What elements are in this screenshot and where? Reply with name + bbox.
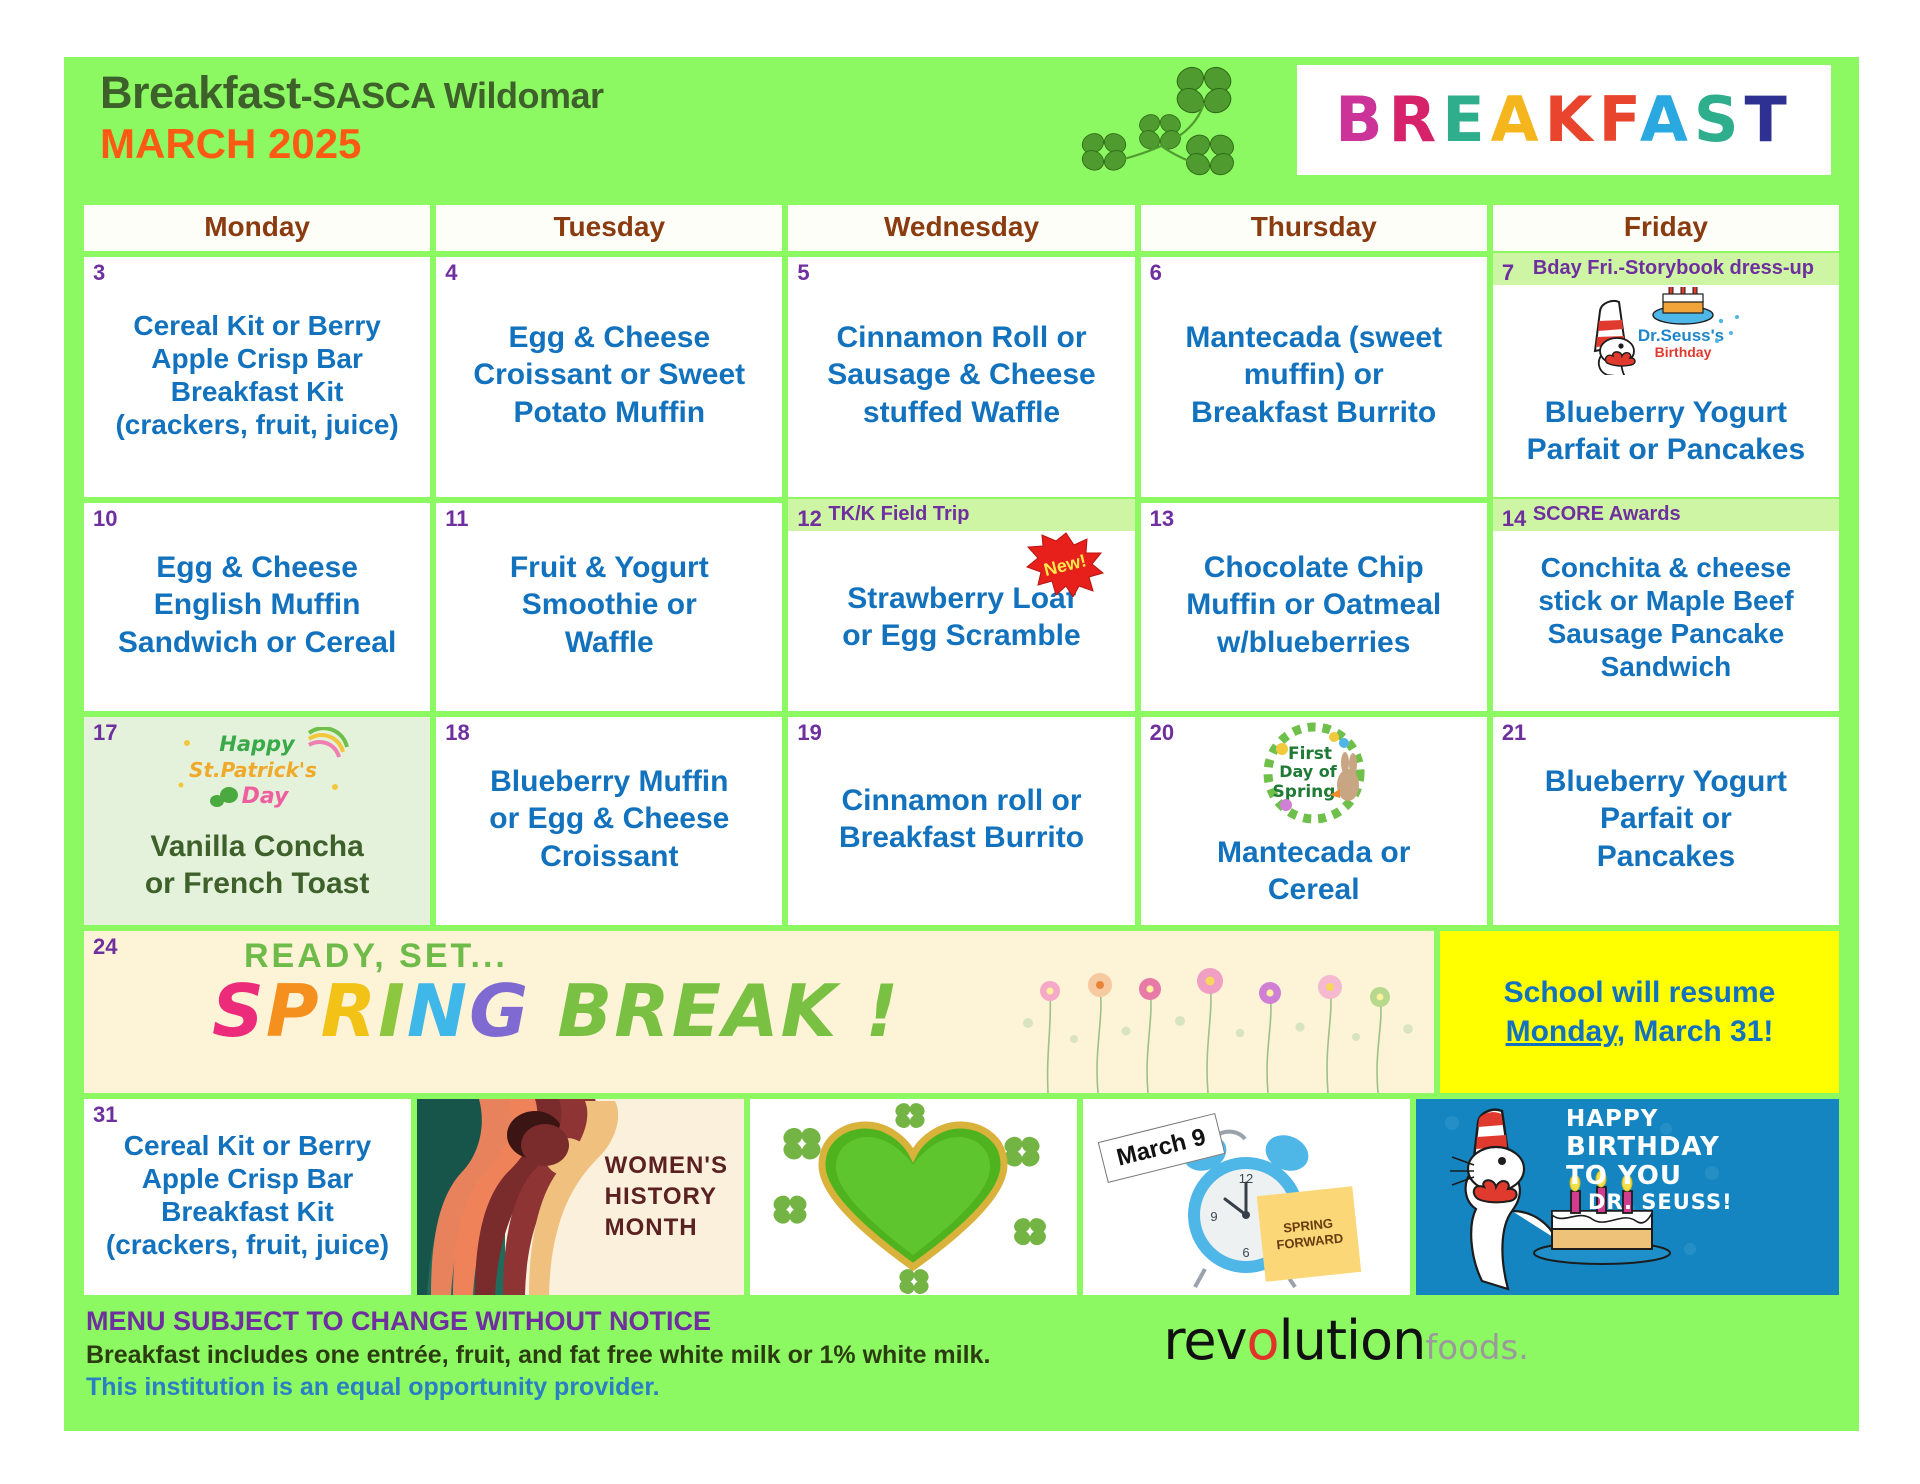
- day-number-13: 13: [1150, 506, 1174, 532]
- resume-line-2: Monday, March 31!: [1506, 1012, 1774, 1051]
- menu-items-5: Cinnamon Roll orSausage & Cheesestuffed …: [794, 261, 1128, 489]
- first-day-of-spring-icon: First Day of Spring: [1248, 719, 1380, 831]
- menu-line: (crackers, fruit, juice): [115, 408, 398, 441]
- menu-items-31: Cereal Kit or BerryApple Crisp BarBreakf…: [90, 1103, 405, 1287]
- menu-line: Breakfast Burrito: [839, 819, 1084, 856]
- day-number-12: 12: [797, 506, 821, 532]
- menu-line: Chocolate Chip: [1204, 549, 1424, 586]
- logo-letter: A: [1640, 83, 1694, 156]
- menu-line: Cereal: [1268, 871, 1360, 908]
- logo-letter: T: [1745, 83, 1793, 156]
- menu-line: Sausage & Cheese: [827, 356, 1095, 393]
- calendar-day-13[interactable]: 13Chocolate ChipMuffin or Oatmealw/blueb…: [1141, 503, 1487, 711]
- spring-break-letter: P: [266, 969, 321, 1053]
- calendar-day-14[interactable]: 14SCORE AwardsConchita & cheesestick or …: [1493, 503, 1839, 711]
- weekday-header-friday: Friday: [1493, 205, 1839, 251]
- calendar-day-11[interactable]: 11Fruit & YogurtSmoothie orWaffle: [436, 503, 782, 711]
- svg-text:First: First: [1288, 744, 1332, 764]
- spring-break-letter: G: [469, 969, 530, 1053]
- breakfast-logo: BREAKFAST: [1297, 65, 1831, 175]
- svg-text:Happy: Happy: [219, 732, 296, 756]
- brand-letter: t: [1326, 1309, 1346, 1372]
- menu-line: Conchita & cheese: [1541, 551, 1792, 584]
- resume-line-1: School will resume: [1504, 973, 1776, 1012]
- spring-flowers-icon: [1008, 943, 1428, 1093]
- revolution-wordmark: revolution: [1163, 1309, 1425, 1372]
- day-number-3: 3: [93, 260, 105, 286]
- menu-line: Croissant: [540, 838, 678, 875]
- calendar-day-10[interactable]: 10Egg & CheeseEnglish MuffinSandwich or …: [84, 503, 430, 711]
- whm-line1: WOMEN'S: [605, 1150, 728, 1181]
- day-number-18: 18: [445, 720, 469, 746]
- spring-break-letter: [530, 969, 557, 1053]
- menu-line: Sandwich: [1601, 650, 1732, 683]
- calendar-day-31: 31 Cereal Kit or BerryApple Crisp BarBre…: [84, 1099, 411, 1295]
- menu-line: muffin) or: [1244, 356, 1384, 393]
- spring-break-banner: 24 READY, SET... SPRING BREAK !: [84, 931, 1434, 1093]
- weekday-header-monday: Monday: [84, 205, 430, 251]
- menu-line: Breakfast Kit: [161, 1195, 334, 1228]
- day-note-12: TK/K Field Trip: [788, 499, 1134, 531]
- menu-line: stick or Maple Beef: [1538, 584, 1793, 617]
- brand-letter: l: [1279, 1309, 1293, 1372]
- menu-line: Muffin or Oatmeal: [1186, 586, 1441, 623]
- day-note-7: Bday Fri.-Storybook dress-up: [1493, 253, 1839, 285]
- weekday-header-wednesday: Wednesday: [788, 205, 1134, 251]
- womens-history-month-image: WOMEN'S HISTORY MONTH: [417, 1099, 744, 1295]
- menu-line: Egg & Cheese: [156, 549, 358, 586]
- spring-break-letter: K: [781, 969, 839, 1053]
- menu-items-20: Mantecada orCereal: [1147, 825, 1481, 917]
- svg-text:Dr.Seuss's: Dr.Seuss's: [1638, 326, 1724, 345]
- spring-break-section: 24 READY, SET... SPRING BREAK !: [64, 931, 1859, 1295]
- page-title: Breakfast-SASCA Wildomar: [100, 67, 603, 119]
- menu-line: Cereal Kit or Berry: [124, 1129, 371, 1162]
- menu-line: Sausage Pancake: [1548, 617, 1785, 650]
- school-resume-notice: School will resume Monday, March 31!: [1440, 931, 1839, 1093]
- spring-break-letter: R: [321, 969, 378, 1053]
- logo-letter: R: [1388, 83, 1442, 156]
- spring-break-letter: R: [614, 969, 671, 1053]
- title-sub: -SASCA Wildomar: [301, 75, 604, 116]
- calendar-day-17[interactable]: 17 Happy St.Patrick's Day Vanilla Concha…: [84, 717, 430, 925]
- title-main: Breakfast: [100, 67, 301, 118]
- menu-line: Potato Muffin: [513, 394, 705, 431]
- menu-line: Mantecada (sweet: [1185, 319, 1442, 356]
- menu-line: Waffle: [565, 624, 654, 661]
- poster-footer: MENU SUBJECT TO CHANGE WITHOUT NOTICE Br…: [64, 1295, 1859, 1415]
- menu-items-6: Mantecada (sweetmuffin) orBreakfast Burr…: [1147, 261, 1481, 489]
- menu-line: Apple Crisp Bar: [142, 1162, 354, 1195]
- day-number-21: 21: [1502, 720, 1526, 746]
- last-row: 31 Cereal Kit or BerryApple Crisp BarBre…: [84, 1099, 1839, 1295]
- day-number-31: 31: [93, 1102, 117, 1128]
- brand-letter: o: [1360, 1309, 1392, 1372]
- weekday-header-tuesday: Tuesday: [436, 205, 782, 251]
- poster-header: Breakfast-SASCA Wildomar MARCH 2025: [64, 57, 1859, 205]
- spring-break-letter: N: [407, 969, 469, 1053]
- menu-line: Mantecada or: [1217, 834, 1410, 871]
- menu-items-19: Cinnamon roll orBreakfast Burrito: [794, 721, 1128, 917]
- calendar-day-12[interactable]: 12TK/K Field TripStrawberry Loafor Egg S…: [788, 503, 1134, 711]
- menu-line: (crackers, fruit, juice): [106, 1228, 389, 1261]
- spring-break-letter: !: [865, 969, 900, 1053]
- spring-break-letter: A: [723, 969, 781, 1053]
- footer-includes: Breakfast includes one entrée, fruit, an…: [86, 1339, 1839, 1372]
- spring-break-letter: E: [672, 969, 723, 1053]
- day-number-11: 11: [445, 506, 468, 532]
- menu-line: stuffed Waffle: [863, 394, 1060, 431]
- spring-break-text: SPRING BREAK !: [212, 969, 900, 1053]
- menu-items-4: Egg & CheeseCroissant or SweetPotato Muf…: [442, 261, 776, 489]
- menu-line: Cinnamon roll or: [842, 782, 1082, 819]
- menu-line: English Muffin: [154, 586, 361, 623]
- clover-heart-image: [750, 1099, 1077, 1295]
- breakfast-menu-poster: Breakfast-SASCA Wildomar MARCH 2025: [64, 57, 1859, 1431]
- spring-break-letter: B: [557, 969, 614, 1053]
- seuss-line2: BIRTHDAY: [1566, 1133, 1733, 1162]
- menu-line: Pancakes: [1597, 838, 1735, 875]
- svg-text:9: 9: [1210, 1209, 1217, 1224]
- menu-line: Apple Crisp Bar: [151, 342, 363, 375]
- menu-line: Breakfast Burrito: [1191, 394, 1436, 431]
- menu-line: Vanilla Concha: [150, 828, 363, 865]
- spring-break-letter: S: [212, 969, 266, 1053]
- day-number-24: 24: [93, 934, 117, 960]
- brand-letter: v: [1216, 1309, 1247, 1372]
- day-number-5: 5: [797, 260, 809, 286]
- breakfast-logo-text: BREAKFAST: [1335, 89, 1793, 151]
- resume-date: , March 31!: [1617, 1015, 1774, 1048]
- dr-seuss-birthday-icon: Dr.Seuss's Birthday: [1571, 287, 1761, 375]
- menu-line: Blueberry Yogurt: [1545, 394, 1787, 431]
- spring-forward-image: 123 69 March 9 SPRING FORWARD: [1083, 1099, 1410, 1295]
- menu-items-11: Fruit & YogurtSmoothie orWaffle: [442, 507, 776, 703]
- spring-forward-note: SPRING FORWARD: [1257, 1186, 1361, 1282]
- dr-seuss-birthday-image: HAPPY BIRTHDAY TO YOU DR. SEUSS!: [1416, 1099, 1839, 1295]
- seuss-line3: TO YOU: [1566, 1162, 1733, 1191]
- footer-notice: MENU SUBJECT TO CHANGE WITHOUT NOTICE: [86, 1305, 1839, 1339]
- calendar-day-18[interactable]: 18Blueberry Muffinor Egg & CheeseCroissa…: [436, 717, 782, 925]
- svg-text:12: 12: [1239, 1171, 1253, 1186]
- day-number-4: 4: [445, 260, 457, 286]
- menu-line: Parfait or Pancakes: [1527, 431, 1805, 468]
- menu-line: Blueberry Yogurt: [1545, 763, 1787, 800]
- happy-st-patricks-day-icon: Happy St.Patrick's Day: [157, 727, 357, 813]
- brand-letter: n: [1392, 1309, 1425, 1372]
- spring-break-letter: I: [378, 969, 407, 1053]
- calendar-page: Breakfast-SASCA Wildomar MARCH 2025: [0, 0, 1920, 1484]
- menu-line: Egg & Cheese: [508, 319, 710, 356]
- logo-letter: K: [1545, 83, 1599, 156]
- menu-line: Smoothie or: [522, 586, 697, 623]
- day-number-14: 14: [1502, 506, 1526, 532]
- spring-break-letter: [838, 969, 865, 1053]
- weekday-header-row: Monday Tuesday Wednesday Thursday Friday: [64, 205, 1859, 251]
- menu-line: Cereal Kit or Berry: [133, 309, 380, 342]
- svg-text:Day of: Day of: [1279, 762, 1338, 781]
- menu-items-13: Chocolate ChipMuffin or Oatmealw/blueber…: [1147, 507, 1481, 703]
- menu-items-21: Blueberry YogurtParfait orPancakes: [1499, 721, 1833, 917]
- footer-equal-opportunity: This institution is an equal opportunity…: [86, 1371, 1839, 1404]
- menu-line: or French Toast: [145, 865, 369, 902]
- brand-letter: u: [1293, 1309, 1326, 1372]
- calendar-day-7[interactable]: 7Bday Fri.-Storybook dress-up Dr.Seuss's…: [1493, 257, 1839, 497]
- menu-line: Fruit & Yogurt: [510, 549, 709, 586]
- brand-letter: i: [1346, 1309, 1360, 1372]
- menu-line: or Egg Scramble: [842, 617, 1080, 654]
- day-note-14: SCORE Awards: [1493, 499, 1839, 531]
- menu-items-17: Vanilla Conchaor French Toast: [90, 813, 424, 917]
- title-block: Breakfast-SASCA Wildomar MARCH 2025: [100, 67, 603, 167]
- logo-letter: F: [1599, 83, 1640, 156]
- seuss-line1: HAPPY: [1566, 1107, 1733, 1133]
- menu-items-7: Blueberry YogurtParfait or Pancakes: [1499, 373, 1833, 489]
- svg-text:6: 6: [1242, 1245, 1249, 1260]
- menu-items-10: Egg & CheeseEnglish MuffinSandwich or Ce…: [90, 507, 424, 703]
- day-number-6: 6: [1150, 260, 1162, 286]
- calendar-day-19[interactable]: 19Cinnamon roll orBreakfast Burrito: [788, 717, 1134, 925]
- svg-text:St.Patrick's: St.Patrick's: [189, 758, 317, 782]
- revolution-foods-logo: revolutionfoods.: [1163, 1309, 1529, 1372]
- spring-break-row: 24 READY, SET... SPRING BREAK !: [84, 931, 1839, 1093]
- menu-line: or Egg & Cheese: [489, 800, 729, 837]
- seuss-line4: DR. SEUSS!: [1588, 1191, 1733, 1215]
- day-number-7: 7: [1502, 260, 1514, 286]
- menu-line: Parfait or: [1600, 800, 1732, 837]
- calendar-week-row: 10Egg & CheeseEnglish MuffinSandwich or …: [84, 503, 1839, 711]
- menu-line: Blueberry Muffin: [490, 763, 728, 800]
- womens-history-month-text: WOMEN'S HISTORY MONTH: [605, 1150, 728, 1244]
- menu-line: Croissant or Sweet: [473, 356, 745, 393]
- calendar-day-5[interactable]: 5Cinnamon Roll orSausage & Cheesestuffed…: [788, 257, 1134, 497]
- weekday-header-thursday: Thursday: [1141, 205, 1487, 251]
- logo-letter: E: [1442, 83, 1490, 156]
- calendar-day-21[interactable]: 21Blueberry YogurtParfait orPancakes: [1493, 717, 1839, 925]
- day-number-17: 17: [93, 720, 117, 746]
- menu-line: w/blueberries: [1217, 624, 1410, 661]
- calendar-day-6[interactable]: 6Mantecada (sweetmuffin) orBreakfast Bur…: [1141, 257, 1487, 497]
- clover-decoration: [1064, 59, 1274, 199]
- brand-letter: r: [1163, 1309, 1183, 1372]
- calendar-week-row: 3Cereal Kit or BerryApple Crisp BarBreak…: [84, 257, 1839, 497]
- day-number-10: 10: [93, 506, 117, 532]
- logo-letter: A: [1491, 83, 1545, 156]
- svg-text:Spring: Spring: [1272, 782, 1335, 802]
- svg-text:Day: Day: [242, 784, 290, 809]
- calendar-week-row: 17 Happy St.Patrick's Day Vanilla Concha…: [84, 717, 1839, 925]
- menu-items-3: Cereal Kit or BerryApple Crisp BarBreakf…: [90, 261, 424, 489]
- calendar-day-3[interactable]: 3Cereal Kit or BerryApple Crisp BarBreak…: [84, 257, 430, 497]
- menu-items-18: Blueberry Muffinor Egg & CheeseCroissant: [442, 721, 776, 917]
- new-burst-icon: New!: [1023, 531, 1109, 597]
- menu-line: Cinnamon Roll or: [837, 319, 1087, 356]
- logo-letter: B: [1335, 83, 1388, 156]
- menu-line: Sandwich or Cereal: [118, 624, 396, 661]
- logo-letter: S: [1694, 83, 1745, 156]
- day-number-19: 19: [797, 720, 821, 746]
- month-label: MARCH 2025: [100, 121, 603, 167]
- resume-monday: Monday: [1506, 1015, 1617, 1048]
- brand-letter: e: [1183, 1309, 1215, 1372]
- calendar-weeks: 3Cereal Kit or BerryApple Crisp BarBreak…: [64, 251, 1859, 925]
- whm-line2: HISTORY: [605, 1181, 728, 1212]
- calendar-day-4[interactable]: 4Egg & CheeseCroissant or SweetPotato Mu…: [436, 257, 782, 497]
- dr-seuss-birthday-text: HAPPY BIRTHDAY TO YOU DR. SEUSS!: [1566, 1107, 1733, 1214]
- calendar-day-20[interactable]: 20 First Day of Spring Mantecada orCerea…: [1141, 717, 1487, 925]
- svg-text:Birthday: Birthday: [1655, 344, 1712, 360]
- brand-letter: o: [1247, 1309, 1279, 1372]
- menu-line: Breakfast Kit: [171, 375, 344, 408]
- foods-wordmark: foods.: [1425, 1328, 1529, 1368]
- menu-items-14: Conchita & cheesestick or Maple BeefSaus…: [1499, 531, 1833, 703]
- whm-line3: MONTH: [605, 1213, 728, 1244]
- day-number-20: 20: [1150, 720, 1174, 746]
